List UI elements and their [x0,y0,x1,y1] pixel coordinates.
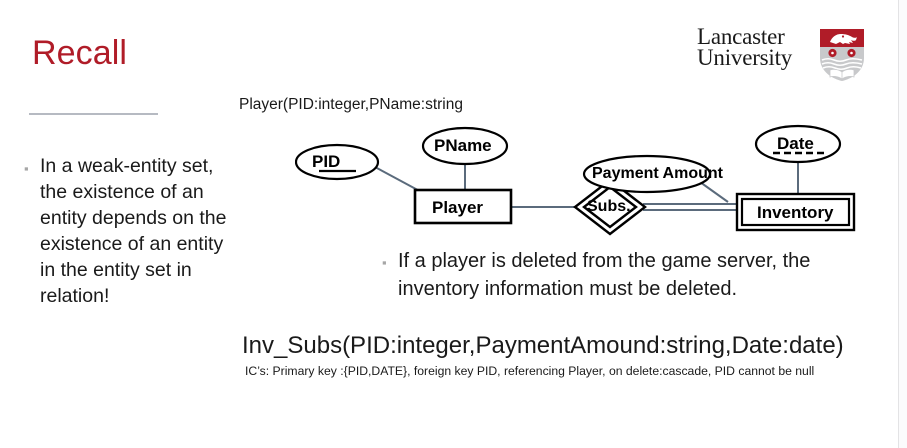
title-divider [29,113,158,115]
er-entity-inventory [737,194,854,230]
bullet-list-right: ▪ If a player is deleted from the game s… [382,247,882,303]
page-border [898,0,899,448]
lancaster-university-logo: Lancaster University [697,26,867,82]
bullet-list-left: ▪ In a weak-entity set, the existence of… [24,153,239,309]
edge-paymentamount-inventory [700,182,728,202]
logo-line-lancaster: Lancaster [697,26,792,47]
page-margin [899,0,907,448]
er-attribute-date [756,126,840,162]
slide-canvas: Recall Lancaster University [0,0,907,448]
er-diagram: PID PName Player Subs. Payment Amount Da… [295,122,895,242]
list-item: ▪ If a player is deleted from the game s… [382,247,882,303]
integrity-constraints-text: IC’s: Primary key :{PID,DATE}, foreign k… [245,364,814,378]
list-item: ▪ In a weak-entity set, the existence of… [24,153,239,309]
inv-subs-relation-schema: Inv_Subs(PID:integer,PaymentAmound:strin… [242,332,844,360]
player-relation-schema: Player(PID:integer,PName:string [239,96,463,114]
logo-wordmark: Lancaster University [697,26,792,68]
bullet-text: In a weak-entity set, the existence of a… [34,153,239,309]
er-attribute-payment-amount [584,156,710,192]
logo-line-university: University [697,47,792,68]
er-attribute-pid [296,145,378,179]
crest-icon [819,28,865,82]
edge-subs-inventory-double [643,204,738,210]
bullet-marker-icon: ▪ [382,247,392,269]
page-title: Recall [32,33,127,73]
er-diagram-svg [295,122,895,242]
bullet-marker-icon: ▪ [24,153,34,175]
er-attribute-pname [423,128,507,164]
bullet-text: If a player is deleted from the game ser… [392,247,882,303]
er-entity-player [415,190,511,223]
